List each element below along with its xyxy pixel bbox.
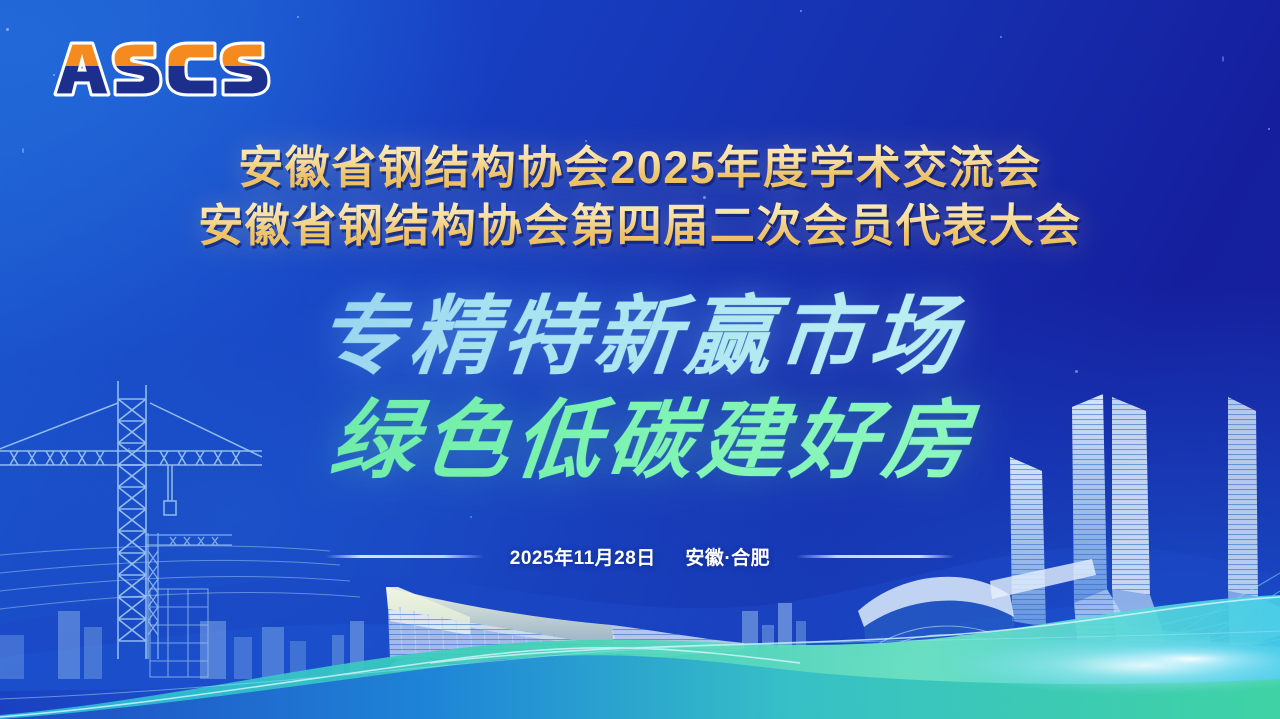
poster-canvas: 安徽省钢结构协会2025年度学术交流会 安徽省钢结构协会第四届二次会员代表大会 … [0, 0, 1280, 719]
date-location-bar: 2025年11月28日 安徽·合肥 [0, 543, 1280, 570]
divider-line-right [796, 555, 954, 558]
ascs-logo-mark [46, 36, 286, 102]
event-location: 安徽·合肥 [685, 548, 770, 569]
slogan-line-1: 专精特新赢市场 [0, 285, 1280, 389]
event-date: 2025年11月28日 [510, 548, 656, 569]
title-block: 安徽省钢结构协会2025年度学术交流会 安徽省钢结构协会第四届二次会员代表大会 [0, 139, 1280, 255]
ascs-logo [46, 36, 286, 102]
slogan-line-2: 绿色低碳建好房 [21, 389, 1280, 493]
title-line-1: 安徽省钢结构协会2025年度学术交流会 [0, 139, 1280, 197]
divider-line-left [326, 555, 484, 558]
title-line-2: 安徽省钢结构协会第四届二次会员代表大会 [0, 197, 1280, 255]
slogan-block: 专精特新赢市场 绿色低碳建好房 [0, 285, 1280, 493]
date-location-text: 2025年11月28日 安徽·合肥 [510, 543, 770, 570]
